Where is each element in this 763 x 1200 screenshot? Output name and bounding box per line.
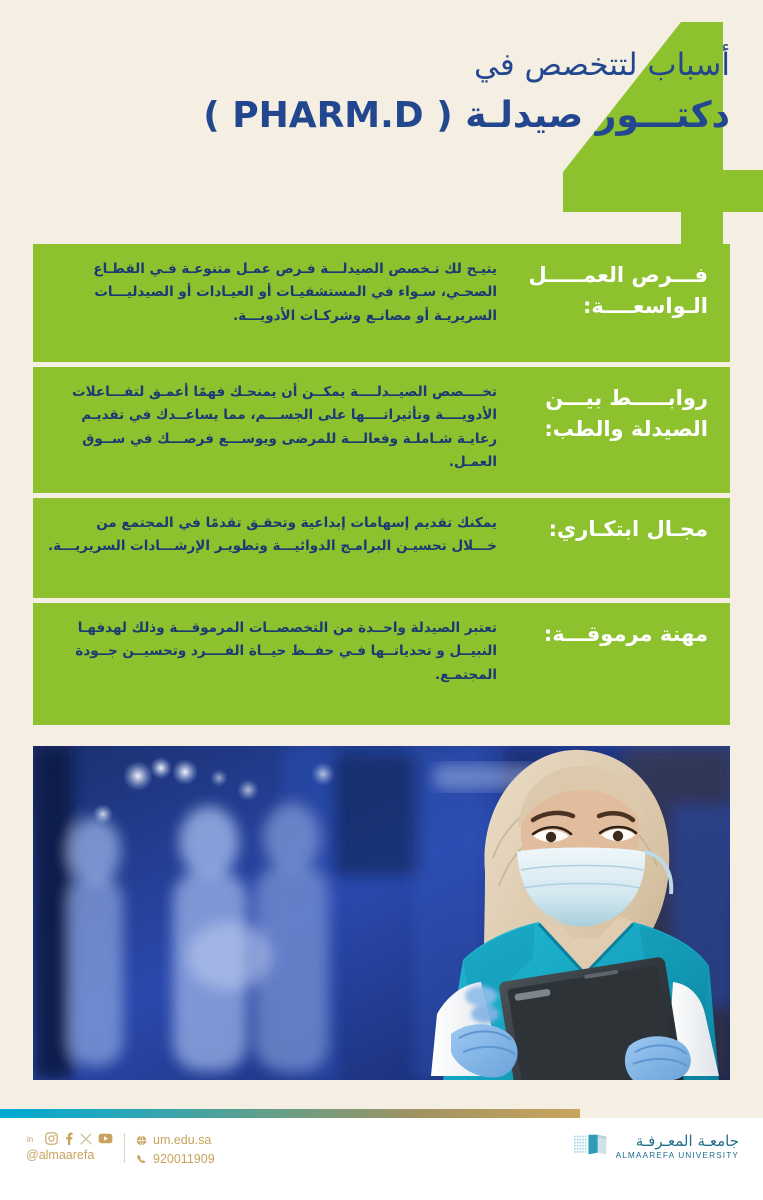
logo-arabic-name: جامعـة المعـرفـة: [636, 1133, 739, 1150]
logo-english-name: ALMAAREFA UNIVERSITY: [616, 1150, 739, 1161]
reason-label: فـــرص العمـــــل الـواسعــــة:: [497, 258, 712, 322]
footer-bar: in @almaarefa: [0, 1118, 763, 1200]
hero-photo: [33, 746, 730, 1080]
open-book-icon: [574, 1132, 608, 1162]
website-text: um.edu.sa: [153, 1132, 211, 1148]
poster-canvas: أسباب لتتخصص في دكتـــور صيدلـة ( PHARM.…: [0, 0, 763, 1200]
reason-text: يمكنك تقديم إسهامات إبداعية وتحقـق تقدمً…: [47, 512, 497, 559]
social-block: in @almaarefa: [26, 1132, 113, 1162]
reason-row: مهنة مرموقـــة: تعتبر الصيدلة واحــدة من…: [33, 603, 730, 725]
header-line-1: أسباب لتتخصص في: [33, 46, 730, 85]
x-icon[interactable]: [80, 1133, 92, 1145]
website-line[interactable]: um.edu.sa: [136, 1132, 215, 1148]
footer-contact-block: in @almaarefa: [26, 1132, 215, 1167]
poster-header: أسباب لتتخصص في دكتـــور صيدلـة ( PHARM.…: [33, 46, 730, 140]
facebook-icon[interactable]: [64, 1132, 74, 1145]
reasons-list: فـــرص العمـــــل الـواسعــــة: يتيـح لك…: [33, 244, 730, 730]
svg-text:in: in: [27, 1135, 33, 1144]
instagram-icon[interactable]: [45, 1132, 58, 1145]
reason-row: فـــرص العمـــــل الـواسعــــة: يتيـح لك…: [33, 244, 730, 362]
social-icons-row: in: [26, 1132, 113, 1145]
reason-label: مجـال ابتكـاري:: [497, 512, 712, 545]
contact-block: um.edu.sa 920011909: [136, 1132, 215, 1167]
reason-row: مجـال ابتكـاري: يمكنك تقديم إسهامات إبدا…: [33, 498, 730, 598]
linkedin-icon[interactable]: in: [26, 1132, 39, 1145]
phone-text: 920011909: [153, 1151, 215, 1167]
reason-row: روابـــــط بيـــن الصيدلة والطب: تخــــص…: [33, 367, 730, 493]
social-handle[interactable]: @almaarefa: [26, 1148, 113, 1162]
footer-divider: [124, 1133, 125, 1163]
university-logo[interactable]: جامعـة المعـرفـة ALMAAREFA UNIVERSITY: [574, 1132, 739, 1162]
phone-icon: [136, 1154, 147, 1165]
reason-label: روابـــــط بيـــن الصيدلة والطب:: [497, 381, 712, 445]
youtube-icon[interactable]: [98, 1133, 113, 1144]
reason-text: تخــــصص الصيــدلــــة يمكــن أن يمنحـك …: [47, 381, 497, 475]
header-line-2: دكتـــور صيدلـة ( PHARM.D ): [33, 93, 730, 140]
reason-text: تعتبر الصيدلة واحــدة من التخصصــات المر…: [47, 617, 497, 687]
phone-line[interactable]: 920011909: [136, 1151, 215, 1167]
reason-text: يتيـح لك تـخصص الصيدلـــة فـرص عمـل متنو…: [47, 258, 497, 328]
gradient-divider: [0, 1109, 580, 1118]
logo-text-block: جامعـة المعـرفـة ALMAAREFA UNIVERSITY: [616, 1133, 739, 1161]
globe-icon: [136, 1135, 147, 1146]
reason-label: مهنة مرموقـــة:: [497, 617, 712, 650]
